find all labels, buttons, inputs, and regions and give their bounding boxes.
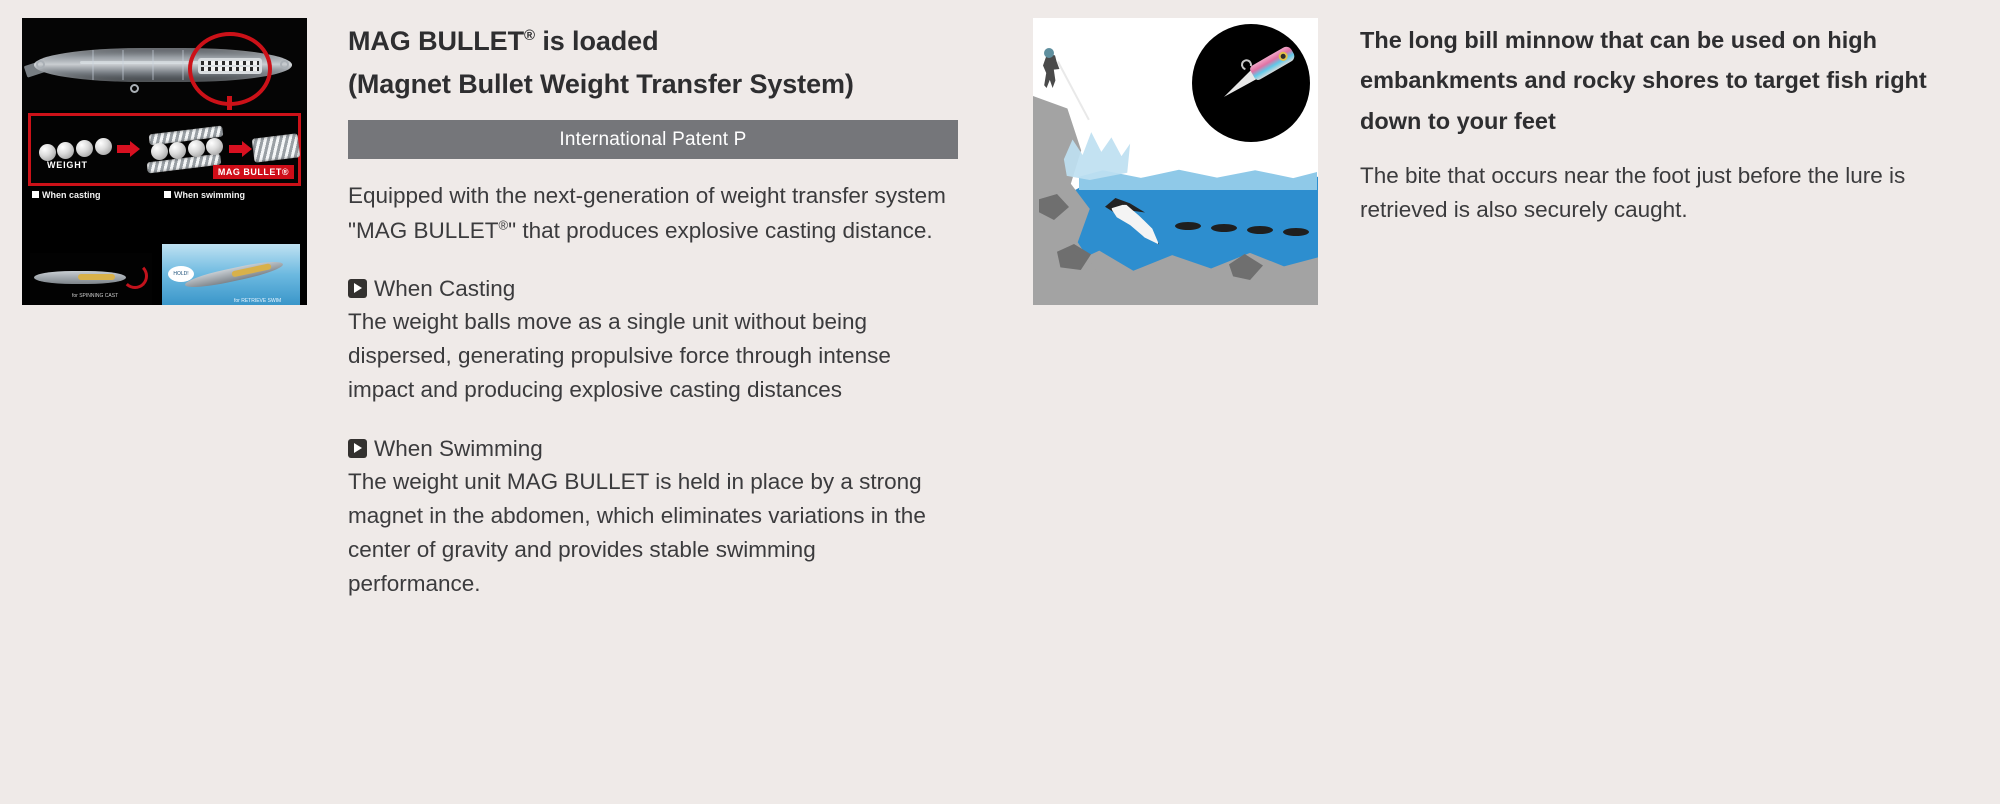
- square-bullet-icon: [32, 191, 39, 198]
- patent-banner: International Patent P: [348, 120, 958, 159]
- weight-transfer-panel: WEIGHT MAG BULLET®: [28, 113, 301, 186]
- angler-figure: [1041, 54, 1061, 88]
- right-arrow-icon-2: [229, 145, 243, 153]
- right-body-paragraph: The bite that occurs near the foot just …: [1360, 159, 1950, 227]
- swirl-arrow-icon: [122, 263, 148, 289]
- retrieve-path-dash: [1211, 224, 1237, 232]
- section-title: When Swimming: [374, 434, 543, 463]
- section-when-swimming: When Swimming The weight unit MAG BULLET…: [348, 434, 960, 602]
- down-arrow-icon: [227, 96, 232, 110]
- section-body: The weight balls move as a single unit w…: [348, 305, 948, 408]
- lure-rib: [182, 50, 184, 80]
- mag-bullet-unit: [252, 133, 301, 162]
- right-arrow-icon: [117, 145, 131, 153]
- section-heading: When Casting: [348, 274, 960, 303]
- section-body: The weight unit MAG BULLET is held in pl…: [348, 465, 948, 602]
- section-title: When Casting: [374, 274, 515, 303]
- highlight-circle: [188, 32, 272, 106]
- intro-paragraph: Equipped with the next-generation of wei…: [348, 179, 948, 247]
- lure-eyelet: [36, 60, 45, 69]
- play-triangle-icon: [348, 439, 367, 458]
- right-page-title: The long bill minnow that can be used on…: [1360, 20, 1950, 141]
- lure-belly-ring: [130, 84, 139, 93]
- lure-tail-ring: [280, 60, 289, 69]
- retrieve-path-dash: [1283, 228, 1309, 236]
- swimming-caption: for RETRIEVE SWIM: [234, 298, 281, 304]
- when-swimming-panel-label: When swimming: [164, 190, 245, 200]
- section-heading: When Swimming: [348, 434, 960, 463]
- casting-caption: for SPINNING CAST: [72, 293, 118, 299]
- right-text-column: The long bill minnow that can be used on…: [1360, 20, 1960, 228]
- rocky-shore-illustration: [1033, 18, 1318, 305]
- product-feature-page: WEIGHT MAG BULLET® When casting When swi…: [0, 0, 2000, 804]
- speech-bubble: HOLD!: [168, 266, 194, 282]
- retrieve-path-dash: [1175, 222, 1201, 230]
- long-bill-minnow-lure: [1217, 45, 1296, 100]
- mag-bullet-badge: MAG BULLET®: [213, 165, 294, 179]
- patent-banner-label: International Patent P: [559, 129, 746, 151]
- swimming-scene: HOLD! for RETRIEVE SWIM: [162, 244, 300, 305]
- when-casting-panel-label: When casting: [32, 190, 101, 200]
- headline-line-1: MAG BULLET® is loaded: [348, 20, 960, 63]
- lure-closeup-inset: [1192, 24, 1310, 142]
- xray-lure-panel: [22, 18, 307, 110]
- registered-mark: ®: [499, 217, 509, 232]
- casting-scene: for SPINNING CAST: [30, 253, 152, 305]
- section-when-casting: When Casting The weight balls move as a …: [348, 274, 960, 408]
- retrieve-path-dash: [1247, 226, 1273, 234]
- lure-rib: [92, 50, 94, 80]
- registered-mark: ®: [524, 27, 535, 44]
- square-bullet-icon: [164, 191, 171, 198]
- page-title: MAG BULLET® is loaded (Magnet Bullet Wei…: [348, 20, 960, 106]
- mag-bullet-diagram-image: WEIGHT MAG BULLET® When casting When swi…: [22, 18, 307, 305]
- play-triangle-icon: [348, 279, 367, 298]
- angler-head: [1044, 48, 1054, 58]
- lure-rib: [152, 50, 154, 80]
- lure-rib: [122, 50, 124, 80]
- left-text-column: MAG BULLET® is loaded (Magnet Bullet Wei…: [348, 20, 960, 602]
- lure-body: [1249, 45, 1297, 82]
- headline-line-2: (Magnet Bullet Weight Transfer System): [348, 63, 960, 106]
- weight-label: WEIGHT: [47, 160, 88, 170]
